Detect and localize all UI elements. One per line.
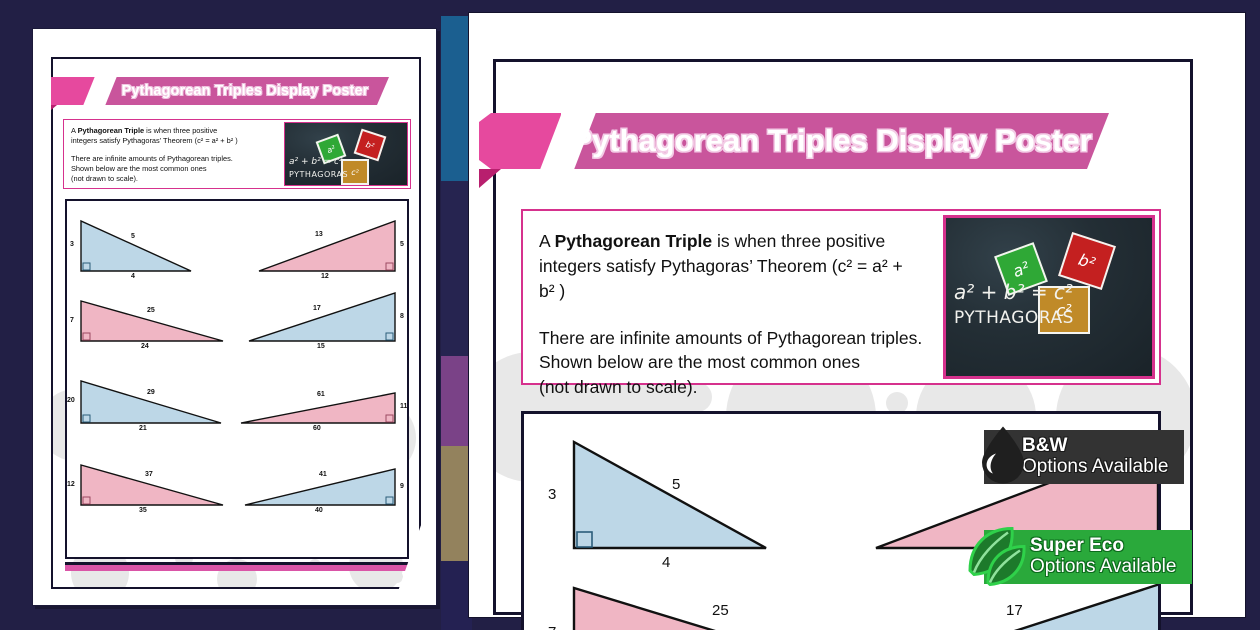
intro-l-p2l1: There are infinite amounts of Pythagorea… — [539, 326, 923, 351]
tri5-label-a: 20 — [67, 397, 75, 404]
triangle-8-15-17-small: 8 15 17 — [247, 291, 397, 347]
poster-small-intro-box: A Pythagorean Triple is when three posit… — [63, 119, 411, 189]
intro-l-line2: integers satisfy Pythagoras’ Theorem (c²… — [539, 254, 923, 304]
triangle-3-4-5-large: 3 4 5 — [570, 438, 770, 556]
intro-s-p2l1: There are infinite amounts of Pythagorea… — [71, 154, 275, 164]
poster-small-footer-divider — [53, 610, 419, 612]
logo-mark-small: Co — [222, 601, 250, 626]
intro-l-p2l2: Shown below are the most common ones — [539, 350, 923, 375]
chalk-equation-large: a² + b² = c² — [954, 280, 1073, 304]
tri1-label-b: 4 — [131, 273, 135, 280]
poster-large-title-text: Pythagorean Triples Display Poster — [571, 123, 1091, 159]
intro-l-p2l3: (not drawn to scale). — [539, 375, 923, 400]
chalk-equation-small: a² + b² = c² — [289, 157, 343, 167]
leaf-icon — [962, 523, 1036, 592]
tri8-label-b: 40 — [315, 507, 323, 514]
tri5-label-b: 21 — [139, 425, 147, 432]
tri3l-label-c: 25 — [712, 602, 729, 619]
tri2-label-a: 5 — [400, 241, 404, 248]
tri4-label-b: 15 — [317, 343, 325, 350]
tri2-label-c: 13 — [315, 231, 323, 238]
intro-s-p2l2: Shown below are the most common ones — [71, 164, 275, 174]
poster-small-triangles-box: 3 4 5 5 12 13 7 24 25 — [65, 199, 409, 559]
intro-s-p2l3: (not drawn to scale). — [71, 174, 275, 184]
tri4-label-a: 8 — [400, 313, 404, 320]
banner-band-large: Pythagorean Triples Display Poster — [572, 113, 1109, 169]
poster-large-intro-box: A Pythagorean Triple is when three posit… — [521, 209, 1161, 385]
tri1l-label-b: 4 — [662, 554, 670, 571]
poster-large-title-banner: Pythagorean Triples Display Poster — [479, 113, 1109, 169]
poster-thumbnail-small[interactable]: Pythagorean Triples Display Poster A Pyt… — [32, 28, 437, 606]
banner-band-small: Pythagorean Triples Display Poster — [101, 77, 389, 105]
poster-small-logo: Co Maths — [222, 601, 250, 630]
intro-s-line2: integers satisfy Pythagoras’ Theorem (c²… — [71, 136, 275, 146]
triangle-11-60-61-small: 11 60 61 — [239, 391, 397, 429]
tri8-label-c: 41 — [319, 471, 327, 478]
tri4l-label-c: 17 — [1006, 602, 1023, 619]
poster-large-intro-text: A Pythagorean Triple is when three posit… — [523, 211, 939, 383]
chalkboard-image-large: a² b² c² a² + b² = c² PYTHAGORAS — [943, 215, 1155, 379]
poster-small-intro-text: A Pythagorean Triple is when three posit… — [64, 120, 282, 188]
tri1-label-a: 3 — [70, 241, 74, 248]
intro-s-suffix: is when three positive — [144, 126, 217, 135]
intro-l-suffix: is when three positive — [712, 231, 885, 251]
tri3-label-c: 25 — [147, 307, 155, 314]
ink-drop-icon — [974, 424, 1032, 491]
tri5-label-c: 29 — [147, 389, 155, 396]
triangle-5-12-13-small: 5 12 13 — [257, 219, 397, 277]
poster-preview-large[interactable]: Pythagorean Triples Display Poster A Pyt… — [468, 12, 1246, 618]
badge-bw-title: B&W — [1022, 436, 1168, 456]
tri1-label-c: 5 — [131, 233, 135, 240]
badge-eco-title: Super Eco — [1030, 536, 1176, 556]
tri7-label-a: 12 — [67, 481, 75, 488]
triangle-3-4-5-small: 3 4 5 — [79, 219, 201, 277]
tri4-label-c: 17 — [313, 305, 321, 312]
tri2-label-b: 12 — [321, 273, 329, 280]
triangle-9-40-41-small: 9 40 41 — [243, 467, 397, 511]
tri3-label-a: 7 — [70, 317, 74, 324]
badge-eco[interactable]: Super Eco Options Available — [984, 530, 1192, 584]
chalkboard-image-small: a² b² c² a² + b² = c² PYTHAGORAS — [284, 122, 408, 186]
intro-s-bold: Pythagorean Triple — [78, 126, 145, 135]
tri1l-label-a: 3 — [548, 486, 556, 503]
tri7-label-c: 37 — [145, 471, 153, 478]
tri3-label-b: 24 — [141, 343, 149, 350]
tri6-label-c: 61 — [317, 391, 325, 398]
triangle-12-35-37-small: 12 35 37 — [79, 463, 227, 511]
intro-l-prefix: A — [539, 231, 555, 251]
tri7-label-b: 35 — [139, 507, 147, 514]
chalk-name-small: PYTHAGORAS — [289, 170, 348, 179]
screenshot-root: Pythagorean Triples Display Poster A Pyt… — [0, 0, 1260, 630]
badge-bw[interactable]: B&W Options Available — [984, 430, 1184, 484]
triangle-20-21-29-small: 20 21 29 — [79, 379, 227, 429]
triangle-7-24-25-large: 7 24 25 — [570, 584, 860, 630]
poster-small-inner-frame: Pythagorean Triples Display Poster A Pyt… — [51, 57, 421, 589]
intro-s-prefix: A — [71, 126, 78, 135]
intro-l-bold: Pythagorean Triple — [555, 231, 713, 251]
tri6-label-a: 11 — [400, 403, 407, 410]
banner-fold-small — [45, 105, 57, 115]
poster-small-pink-footer-bar — [65, 562, 409, 571]
tri3l-label-a: 7 — [548, 624, 556, 630]
poster-small-title-banner: Pythagorean Triples Display Poster — [45, 77, 389, 105]
badge-eco-subtitle: Options Available — [1030, 556, 1176, 577]
badge-bw-subtitle: Options Available — [1022, 456, 1168, 477]
poster-small-title-text: Pythagorean Triples Display Poster — [122, 83, 369, 99]
tri1l-label-c: 5 — [672, 476, 680, 493]
chalk-name-large: PYTHAGORAS — [954, 308, 1074, 328]
tri6-label-b: 60 — [313, 425, 321, 432]
tri8-label-a: 9 — [400, 483, 404, 490]
chalk-square-b-small: b² — [354, 129, 387, 162]
triangle-7-24-25-small: 7 24 25 — [79, 299, 227, 347]
logo-text-small: Co — [227, 606, 245, 621]
